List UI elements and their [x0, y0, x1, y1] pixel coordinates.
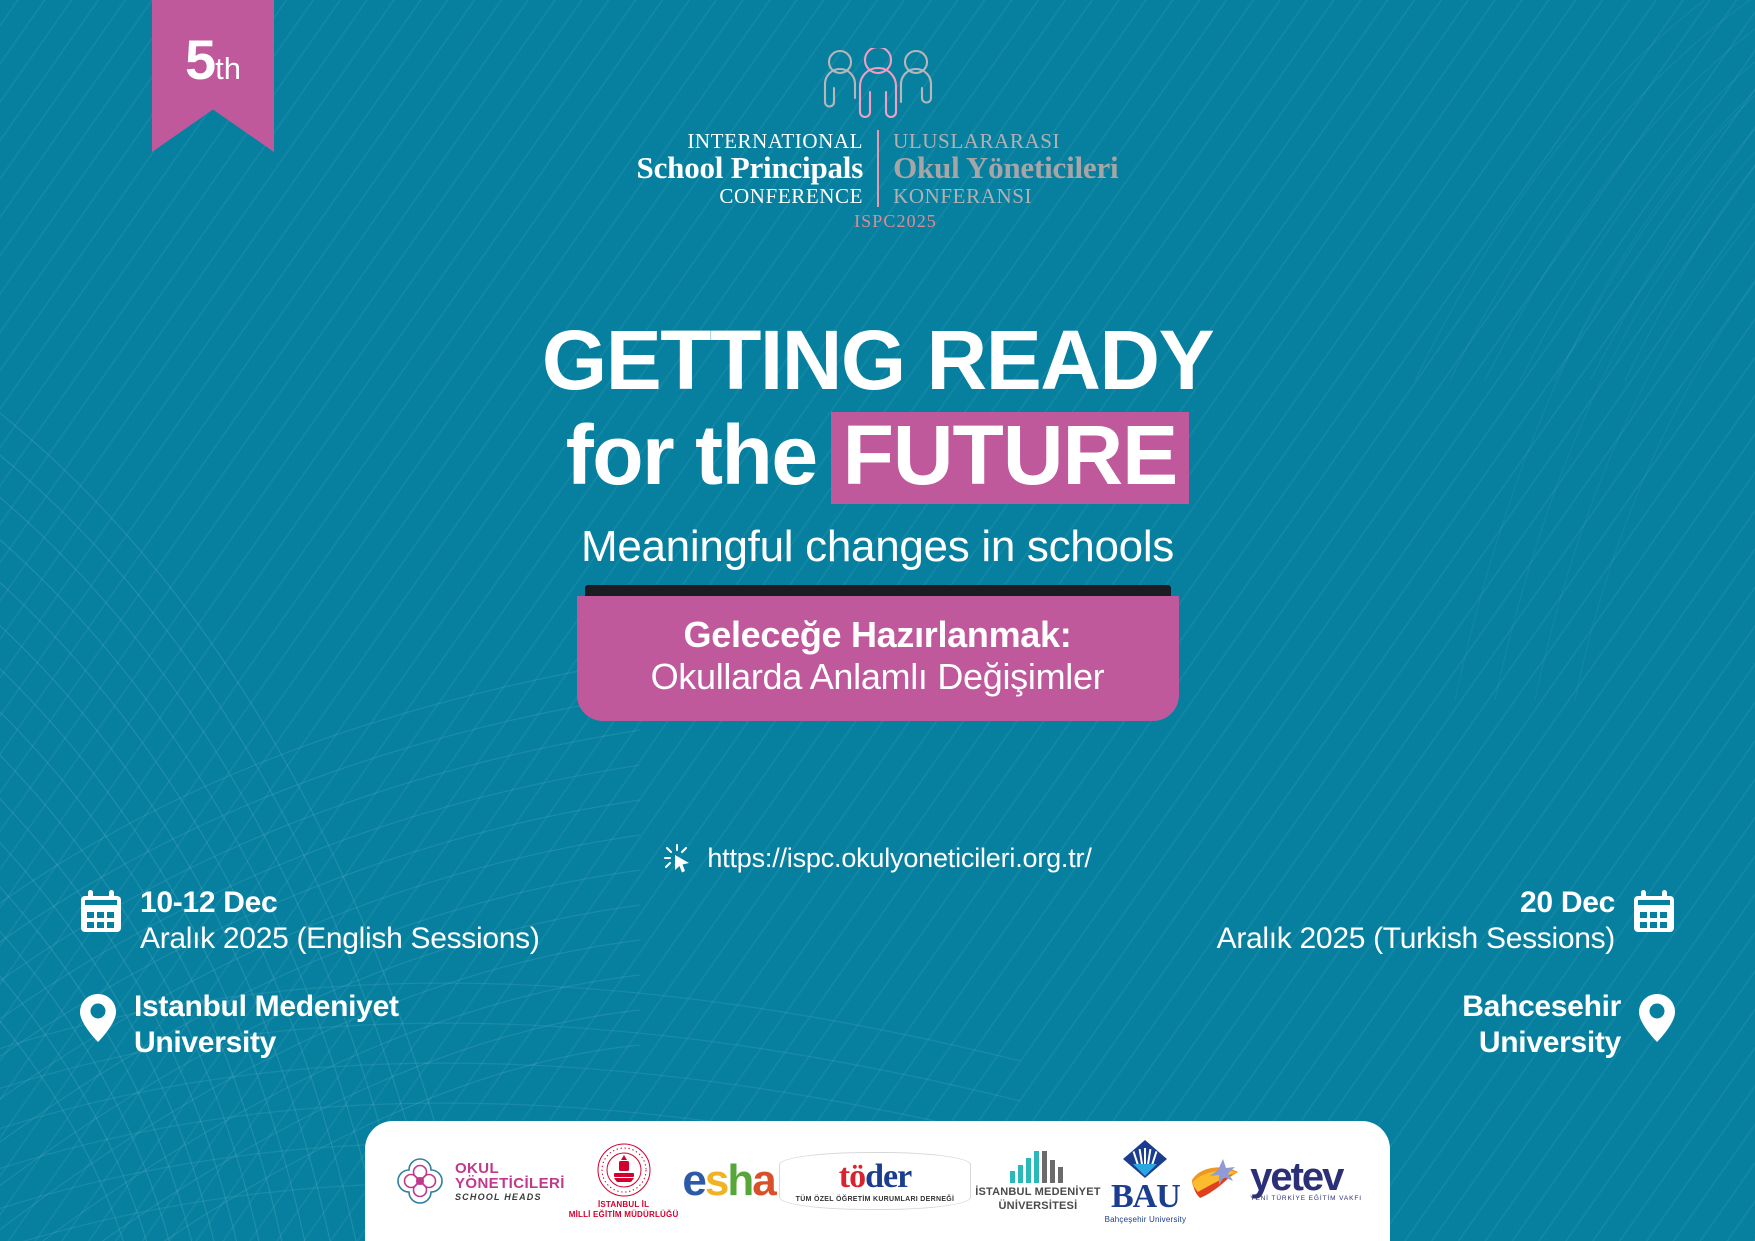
sponsor-meb-text: İSTANBUL İL MİLLİ EĞİTİM MÜDÜRLÜĞÜ: [569, 1200, 679, 1220]
turkish-box-top-bar: [585, 585, 1171, 596]
event-right-date-text: 20 Dec Aralık 2025 (Turkish Sessions): [1217, 885, 1615, 957]
headline-line-2-plain: for the: [566, 413, 817, 497]
building-bars-icon: [1008, 1149, 1068, 1183]
event-left-location-text: Istanbul Medeniyet University: [134, 989, 399, 1061]
flower-rosette-icon: [393, 1154, 447, 1208]
sponsor-esha-wordmark: esha: [682, 1156, 774, 1206]
logo-english-block: INTERNATIONAL School Principals CONFEREN…: [637, 130, 878, 207]
sponsor-okul-yoneticileri[interactable]: OKUL YÖNETİCİLERİ SCHOOL HEADS: [393, 1154, 565, 1208]
event-info-left: 10-12 Dec Aralık 2025 (English Sessions)…: [78, 885, 540, 1061]
event-left-location-line-1: Istanbul Medeniyet: [134, 989, 399, 1025]
calendar-icon: [1631, 889, 1677, 935]
turkish-box-body: Geleceğe Hazırlanmak: Okullarda Anlamlı …: [577, 596, 1179, 721]
event-info-right: 20 Dec Aralık 2025 (Turkish Sessions) Ba…: [1217, 885, 1677, 1061]
bau-diamond-icon: [1121, 1138, 1169, 1180]
sponsor-oy-line-1: OKUL: [455, 1161, 565, 1176]
sponsor-oy-line-3: SCHOOL HEADS: [455, 1193, 565, 1202]
event-left-date-bold: 10-12 Dec: [140, 885, 540, 921]
logo-tr-line2: Okul Yöneticileri: [893, 152, 1118, 185]
logo-tr-line1: ULUSLARARASI: [893, 130, 1118, 152]
event-left-date-text: 10-12 Dec Aralık 2025 (English Sessions): [140, 885, 540, 957]
ministry-seal-icon: [596, 1142, 652, 1198]
sponsor-imu-line-2: ÜNİVERSİTESİ: [975, 1200, 1100, 1214]
conference-poster: 5th INTERNATIONAL School Principals: [0, 0, 1755, 1241]
logo-event-code: ISPC2025: [0, 211, 1755, 232]
event-left-location-row: Istanbul Medeniyet University: [78, 989, 540, 1061]
logo-turkish-block: ULUSLARARASI Okul Yöneticileri KONFERANS…: [877, 130, 1118, 207]
calendar-icon: [78, 889, 124, 935]
three-people-icon: [816, 48, 940, 124]
sponsor-yetev-tagline: YENİ TÜRKİYE EĞİTİM VAKFI: [1250, 1196, 1362, 1203]
sponsor-toder-wordmark: töder: [839, 1161, 911, 1193]
event-right-location-line-2: University: [1462, 1025, 1621, 1061]
click-cursor-icon: [663, 844, 693, 874]
conference-logo-wordmark: INTERNATIONAL School Principals CONFEREN…: [637, 130, 1119, 207]
star-swoosh-icon: [1190, 1158, 1244, 1204]
sponsor-meb-line-2: MİLLİ EĞİTİM MÜDÜRLÜĞÜ: [569, 1210, 679, 1220]
logo-en-line1: INTERNATIONAL: [637, 130, 864, 152]
map-pin-icon: [1637, 993, 1677, 1043]
sponsor-istanbul-il-milli-egitim[interactable]: İSTANBUL İL MİLLİ EĞİTİM MÜDÜRLÜĞÜ: [569, 1142, 679, 1220]
sponsor-yetev[interactable]: yetev YENİ TÜRKİYE EĞİTİM VAKFI: [1190, 1158, 1362, 1204]
map-pin-icon: [78, 993, 118, 1043]
headline-line-2-highlight: FUTURE: [831, 412, 1190, 504]
sponsor-yetev-wordmark: yetev: [1250, 1159, 1362, 1195]
website-url-row[interactable]: https://ispc.okulyoneticileri.org.tr/: [0, 843, 1755, 874]
sponsor-logo-bar: OKUL YÖNETİCİLERİ SCHOOL HEADS İSTANBUL …: [365, 1121, 1390, 1241]
sponsor-meb-line-1: İSTANBUL İL: [569, 1200, 679, 1210]
sponsor-bau-wordmark: BAU: [1111, 1180, 1180, 1214]
sponsor-imu-text: İSTANBUL MEDENİYET ÜNİVERSİTESİ: [975, 1186, 1100, 1214]
sponsor-bau-tagline: Bahçeşehir University: [1105, 1215, 1187, 1224]
event-right-location-row: Bahcesehir University: [1217, 989, 1677, 1061]
event-left-date-row: 10-12 Dec Aralık 2025 (English Sessions): [78, 885, 540, 957]
event-left-date-normal: Aralık 2025 (English Sessions): [140, 921, 540, 957]
headline-line-1: GETTING READY: [0, 318, 1755, 402]
headline-subtitle: Meaningful changes in schools: [0, 522, 1755, 572]
turkish-title-box: Geleceğe Hazırlanmak: Okullarda Anlamlı …: [577, 585, 1179, 721]
event-left-location-line-2: University: [134, 1025, 399, 1061]
sponsor-imu-line-1: İSTANBUL MEDENİYET: [975, 1186, 1100, 1200]
sponsor-toder-tagline: TÜM ÖZEL ÖĞRETİM KURUMLARI DERNEĞİ: [796, 1196, 955, 1203]
sponsor-yetev-text: yetev YENİ TÜRKİYE EĞİTİM VAKFI: [1250, 1159, 1362, 1203]
event-right-location-line-1: Bahcesehir: [1462, 989, 1621, 1025]
sponsor-okul-yoneticileri-text: OKUL YÖNETİCİLERİ SCHOOL HEADS: [455, 1161, 565, 1202]
logo-tr-line3: KONFERANSI: [893, 185, 1118, 207]
sponsor-bau[interactable]: BAU Bahçeşehir University: [1105, 1138, 1187, 1224]
turkish-title-line-1: Geleceğe Hazırlanmak:: [597, 614, 1159, 656]
logo-en-line3: CONFERENCE: [637, 185, 864, 207]
sponsor-oy-line-2: YÖNETİCİLERİ: [455, 1176, 565, 1191]
event-right-location-text: Bahcesehir University: [1462, 989, 1621, 1061]
sponsor-esha[interactable]: esha: [682, 1156, 774, 1206]
conference-logo: INTERNATIONAL School Principals CONFEREN…: [0, 48, 1755, 232]
logo-en-line2: School Principals: [637, 152, 864, 185]
event-right-date-bold: 20 Dec: [1217, 885, 1615, 921]
event-right-date-normal: Aralık 2025 (Turkish Sessions): [1217, 921, 1615, 957]
sponsor-toder[interactable]: töder TÜM ÖZEL ÖĞRETİM KURUMLARI DERNEĞİ: [779, 1152, 972, 1209]
sponsor-istanbul-medeniyet-universitesi[interactable]: İSTANBUL MEDENİYET ÜNİVERSİTESİ: [975, 1149, 1100, 1214]
website-url-text[interactable]: https://ispc.okulyoneticileri.org.tr/: [707, 843, 1091, 874]
headline-line-2: for the FUTURE: [0, 412, 1755, 504]
headline-block: GETTING READY for the FUTURE Meaningful …: [0, 318, 1755, 572]
event-right-date-row: 20 Dec Aralık 2025 (Turkish Sessions): [1217, 885, 1677, 957]
turkish-title-line-2: Okullarda Anlamlı Değişimler: [597, 656, 1159, 698]
